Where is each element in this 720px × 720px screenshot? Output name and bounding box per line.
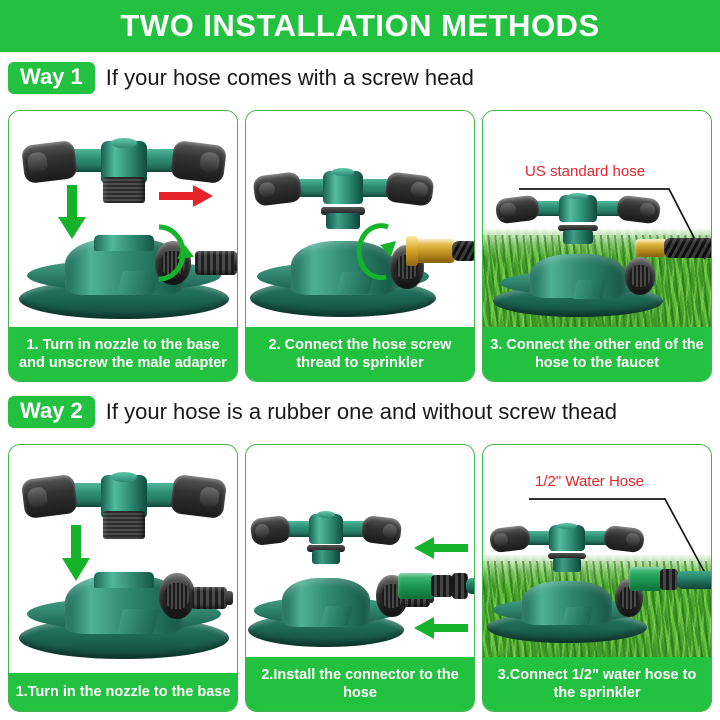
sprinkler-male-thread: [103, 177, 145, 203]
way-2-panel-3-illustration: 1/2" Water Hose: [483, 445, 711, 659]
base-rib: [572, 280, 605, 299]
way-2-heading: Way 2 If your hose is a rubber one and w…: [8, 396, 617, 428]
base-rib: [562, 607, 593, 625]
way-1-panel-1-caption: 1. Turn in nozzle to the base and unscre…: [9, 327, 237, 381]
base-inlet-collar: [94, 572, 155, 588]
callout-label-water-hose: 1/2" Water Hose: [535, 473, 644, 490]
rubber-hose-end: [466, 578, 474, 594]
sprinkler-hub-cap: [557, 523, 576, 529]
swivel-knob: [159, 573, 195, 619]
hose-end: [452, 241, 474, 261]
sprinkler-stem: [312, 550, 340, 564]
sprinkler-hub-cap: [332, 168, 354, 176]
way-1-heading: Way 1 If your hose comes with a screw he…: [8, 62, 474, 94]
sprinkler-nozzle-right: [616, 195, 661, 225]
rotate-arrow-green: [145, 217, 199, 289]
half-inch-water-hose: [677, 571, 711, 589]
sprinkler-in-grass: [487, 523, 647, 643]
left-arrow-green: [408, 617, 468, 639]
us-standard-hose: [664, 238, 711, 258]
male-adapter: [191, 587, 227, 609]
sprinkler-base: [19, 563, 229, 659]
way-1-panel-3-illustration: US standard hose: [483, 111, 711, 329]
brass-connector: [635, 239, 667, 257]
sprinkler-nozzle-left: [495, 195, 540, 225]
way-1-panel-3-caption: 3. Connect the other end of the hose to …: [483, 327, 711, 381]
sprinkler-stem: [326, 213, 359, 229]
sprinkler-hub-cap: [111, 472, 136, 482]
way-1-panel-3: US standard hose: [482, 110, 712, 382]
way-2-panel-2-illustration: [246, 445, 474, 659]
instruction-infographic: TWO INSTALLATION METHODS Way 1 If your h…: [0, 0, 720, 720]
way-2-description: If your hose is a rubber one and without…: [106, 399, 617, 425]
way-2-panel-3-caption: 3.Connect 1/2" water hose to the sprinkl…: [483, 657, 711, 711]
way-1-panel-1: 1. Turn in nozzle to the base and unscre…: [8, 110, 238, 382]
way-2-panel-3: 1/2" Water Hose: [482, 444, 712, 712]
down-arrow-green: [55, 185, 89, 241]
sprinkler-hub-cap: [111, 138, 136, 148]
sprinkler-arm-hub: [559, 195, 596, 222]
sprinkler-stem: [553, 558, 582, 572]
way-1-panel-2: 2. Connect the hose screw thread to spri…: [245, 110, 475, 382]
sprinkler-nozzle-left: [21, 474, 78, 519]
sprinkler-arm-hub: [323, 171, 364, 204]
sprinkler-male-thread: [103, 511, 145, 539]
sprinkler-nozzle-right: [170, 474, 227, 519]
sprinkler-nozzle-left: [21, 140, 78, 185]
way-1-description: If your hose comes with a screw head: [106, 65, 474, 91]
way-2-panel-2-caption: 2.Install the connector to the hose: [246, 657, 474, 711]
sprinkler-nozzle-left: [250, 515, 292, 547]
sprinkler-nozzle-left: [489, 525, 532, 554]
swivel-knob: [625, 257, 655, 295]
quick-connector-green: [629, 567, 663, 591]
sprinkler-hub-cap: [317, 511, 336, 518]
way-2-panel-1: 1.Turn in the nozzle to the base: [8, 444, 238, 712]
left-arrow-green: [408, 537, 468, 559]
callout-label-us-standard-hose: US standard hose: [525, 163, 645, 180]
way-2-panel-2: 2.Install the connector to the hose: [245, 444, 475, 712]
sprinkler-nozzle-right: [170, 140, 227, 185]
way-2-badge: Way 2: [8, 396, 95, 428]
quick-connector-green: [398, 573, 434, 599]
way-1-panel-2-caption: 2. Connect the hose screw thread to spri…: [246, 327, 474, 381]
way-2-panel-1-caption: 1.Turn in the nozzle to the base: [9, 673, 237, 711]
sprinkler-exploded: [19, 463, 229, 659]
rotate-arrow-green: [374, 215, 424, 287]
right-arrow-red: [159, 185, 215, 207]
way-1-panel-2-illustration: [246, 111, 474, 329]
connector-collar-black: [660, 569, 678, 590]
sprinkler-nozzle-right: [360, 515, 402, 547]
way-2-panel-1-illustration: [9, 445, 237, 675]
sprinkler-arm-hub: [309, 514, 343, 544]
sprinkler-nozzle-right: [384, 171, 434, 206]
sprinkler-nozzle-left: [252, 171, 302, 206]
down-arrow-green: [59, 525, 93, 583]
base-rib: [117, 609, 158, 634]
sprinkler-stem: [563, 230, 594, 244]
connector-collar-black: [431, 575, 453, 597]
sprinkler-nozzle-right: [602, 525, 645, 554]
male-adapter: [195, 251, 237, 275]
way-1-panel-1-illustration: [9, 111, 237, 329]
sprinkler-assembled: [248, 511, 404, 647]
way-1-badge: Way 1: [8, 62, 95, 94]
header-banner: TWO INSTALLATION METHODS: [0, 0, 720, 52]
base-rib: [321, 606, 352, 626]
page-title: TWO INSTALLATION METHODS: [120, 8, 599, 44]
